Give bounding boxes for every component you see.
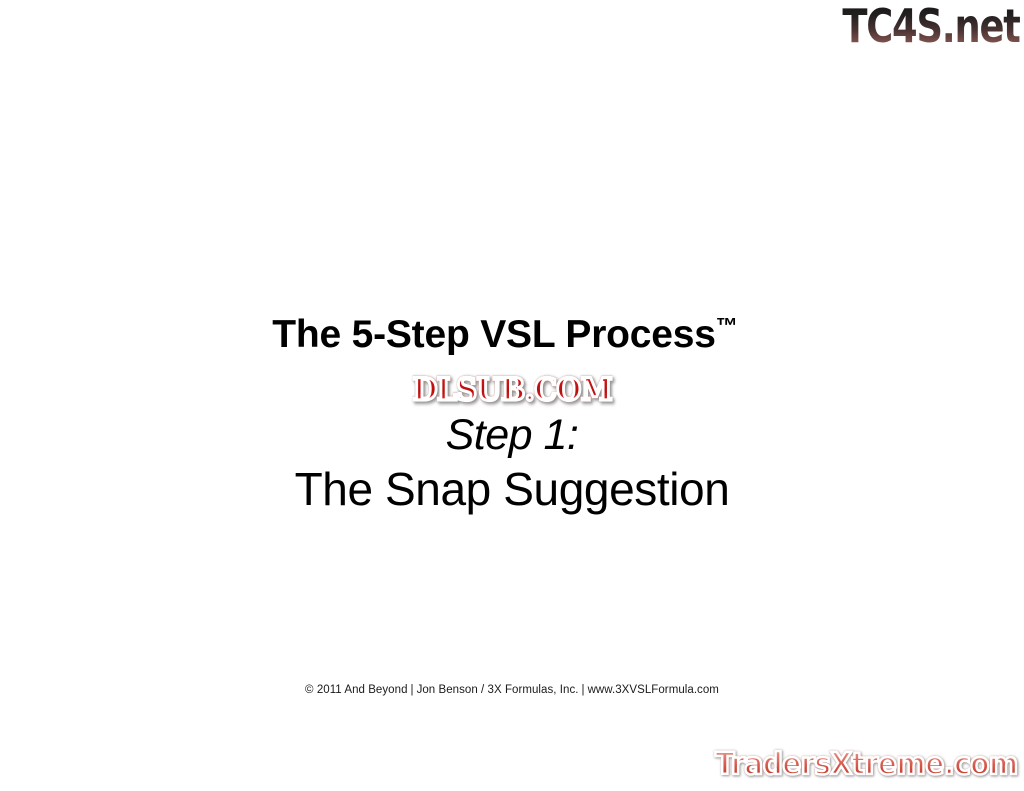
trademark-symbol: ™ xyxy=(716,313,738,338)
copyright-notice: © 2011 And Beyond xyxy=(305,684,407,696)
copyright-attribution: Jon Benson / 3X Formulas, Inc. xyxy=(417,684,579,696)
presentation-slide: TC4S.net The 5-Step VSL Process™ Step 1:… xyxy=(0,0,1024,791)
page-title: The 5-Step VSL Process™ xyxy=(0,303,1024,358)
step-name: The Snap Suggestion xyxy=(0,461,1024,517)
tc4s-net-logo: TC4S.net xyxy=(843,0,1020,52)
tradersxtreme-com-logo: TradersXtreme.com xyxy=(716,747,1018,783)
copyright-website: www.3XVSLFormula.com xyxy=(588,684,719,696)
page-title-text: The 5-Step VSL Process xyxy=(272,313,716,356)
subtitle-block: Step 1: The Snap Suggestion xyxy=(0,409,1024,517)
copyright-separator-2: | xyxy=(579,684,588,696)
dlsub-watermark-text: DLSUB.COM xyxy=(412,372,611,408)
step-label: Step 1: xyxy=(0,409,1024,461)
dlsub-watermark: DLSUB.COM xyxy=(0,372,1024,408)
copyright-line: © 2011 And Beyond|Jon Benson / 3X Formul… xyxy=(0,682,1024,698)
copyright-separator-1: | xyxy=(408,684,417,696)
